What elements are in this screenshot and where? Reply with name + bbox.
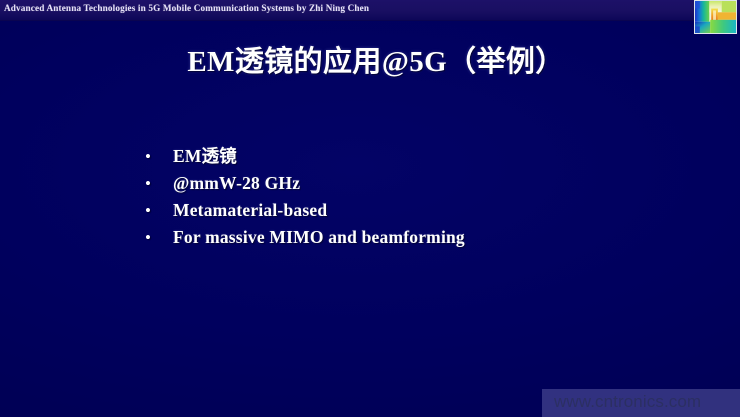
- bullet-text: @mmW-28 GHz: [173, 170, 300, 197]
- list-item: • @mmW-28 GHz: [140, 170, 465, 197]
- list-item: • Metamaterial-based: [140, 197, 465, 224]
- bullet-text: For massive MIMO and beamforming: [173, 224, 465, 251]
- watermark-band: www.cntronics.com: [542, 389, 740, 417]
- watermark-text: www.cntronics.com: [554, 392, 701, 412]
- bullet-marker-icon: •: [140, 224, 173, 251]
- slide-header-band: Advanced Antenna Technologies in 5G Mobi…: [0, 0, 740, 21]
- list-item: • EM透镜: [140, 143, 465, 170]
- presentation-header-title: Advanced Antenna Technologies in 5G Mobi…: [4, 3, 369, 13]
- bullet-list: • EM透镜 • @mmW-28 GHz • Metamaterial-base…: [140, 143, 465, 251]
- bullet-text: Metamaterial-based: [173, 197, 327, 224]
- em-field-simulation-thumbnail: [694, 0, 737, 34]
- bullet-marker-icon: •: [140, 143, 173, 170]
- bullet-text: EM透镜: [173, 143, 237, 170]
- bullet-marker-icon: •: [140, 170, 173, 197]
- list-item: • For massive MIMO and beamforming: [140, 224, 465, 251]
- presentation-slide: Advanced Antenna Technologies in 5G Mobi…: [0, 0, 740, 417]
- bullet-marker-icon: •: [140, 197, 173, 224]
- slide-title: EM透镜的应用@5G（举例）: [0, 38, 740, 80]
